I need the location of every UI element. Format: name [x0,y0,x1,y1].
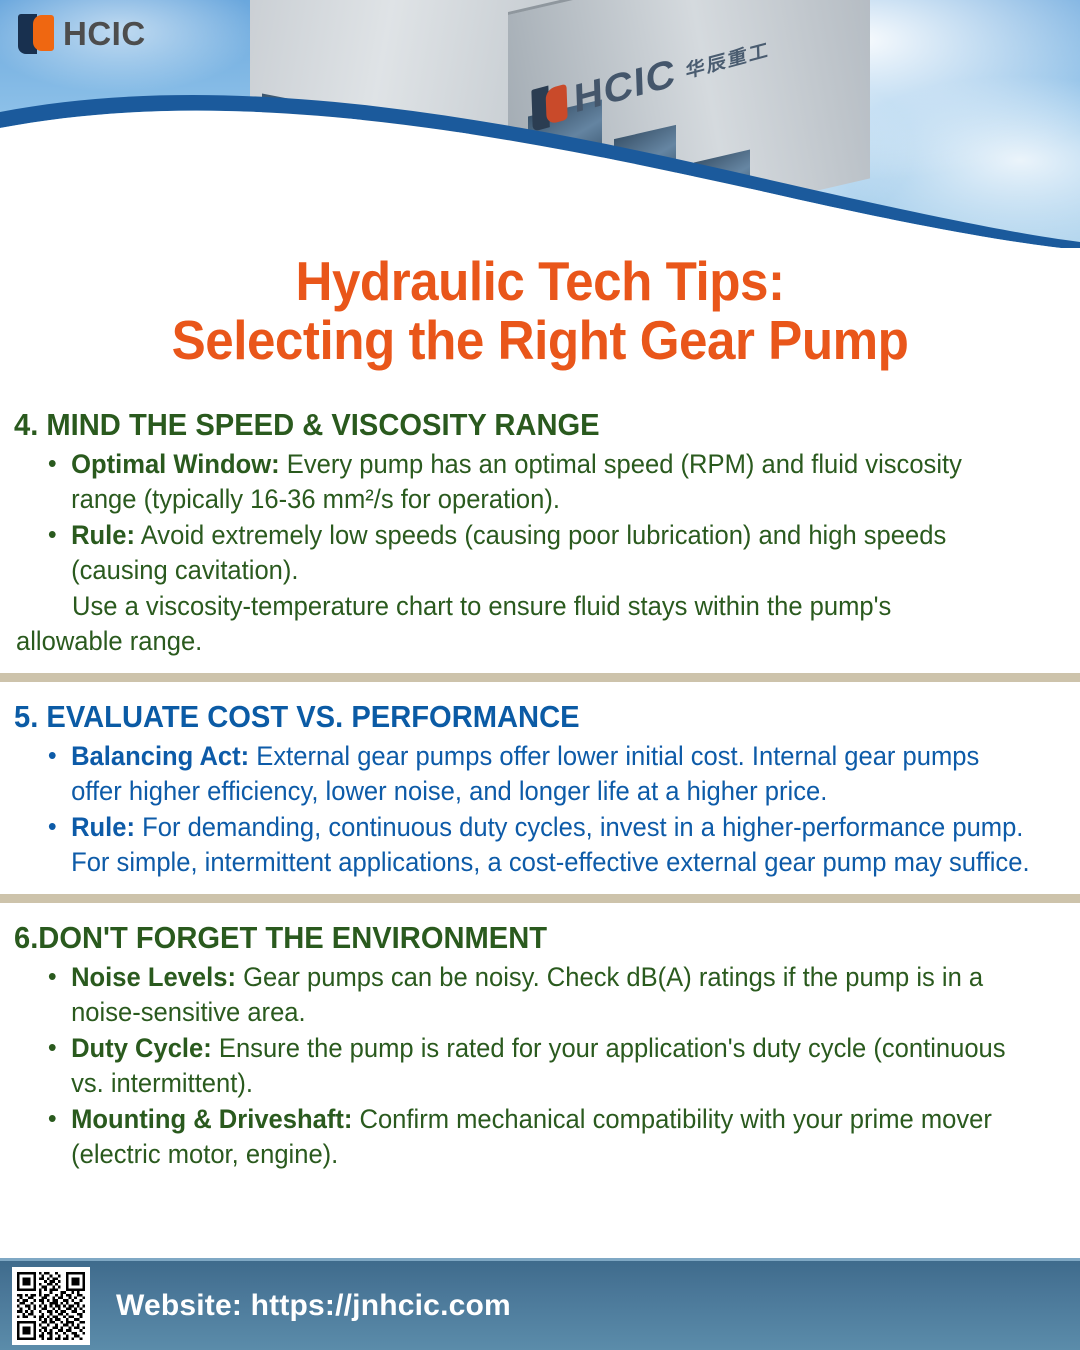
hcic-logomark-icon [18,14,54,54]
footer-bar: Website: https://jnhcic.com [0,1258,1080,1350]
page-title-line1: Hydraulic Tech Tips: [295,250,784,312]
bullet-text: For demanding, continuous duty cycles, i… [71,812,1029,877]
section-cost-performance: 5. EVALUATE COST VS. PERFORMANCE Balanci… [0,698,1080,880]
bullet-lead: Rule: [71,520,135,550]
list-item: Duty Cycle: Ensure the pump is rated for… [46,1031,1030,1101]
brand-logo: HCIC [18,14,146,54]
blue-wave-decoration [0,0,1080,248]
website-label: Website: https://jnhcic.com [116,1289,511,1323]
section-heading: 5. EVALUATE COST VS. PERFORMANCE [14,698,1003,735]
list-item: Rule: Avoid extremely low speeds (causin… [46,518,1030,588]
infographic-page: HCIC 华辰重工 HCIC Hydraulic Tech Tips: Sele… [0,0,1080,1350]
bullet-lead: Balancing Act: [71,741,249,771]
page-title: Hydraulic Tech Tips: Selecting the Right… [38,252,1042,371]
bullet-lead: Rule: [71,812,135,842]
section-divider [0,894,1080,903]
section-note-line2: allowable range. [16,624,1031,659]
qr-code-icon [17,1272,85,1340]
bullet-list: Optimal Window: Every pump has an optima… [46,447,1066,588]
section-environment: 6.DON'T FORGET THE ENVIRONMENT Noise Lev… [0,919,1080,1172]
bullet-text: Avoid extremely low speeds (causing poor… [71,520,946,585]
section-heading: 4. MIND THE SPEED & VISCOSITY RANGE [14,406,1003,443]
bullet-list: Balancing Act: External gear pumps offer… [46,739,1066,880]
page-title-line2: Selecting the Right Gear Pump [38,311,1042,370]
bullet-lead: Mounting & Driveshaft: [71,1104,352,1134]
section-speed-viscosity: 4. MIND THE SPEED & VISCOSITY RANGE Opti… [0,406,1080,659]
section-note: Use a viscosity-temperature chart to ens… [72,589,1031,659]
section-note-line1: Use a viscosity-temperature chart to ens… [72,591,891,621]
list-item: Rule: For demanding, continuous duty cyc… [46,810,1030,880]
bullet-lead: Noise Levels: [71,962,236,992]
bullet-text: Ensure the pump is rated for your applic… [71,1033,1005,1098]
bullet-lead: Optimal Window: [71,449,280,479]
qr-code[interactable] [12,1267,90,1345]
section-heading: 6.DON'T FORGET THE ENVIRONMENT [14,919,1003,956]
brand-logo-text: HCIC [63,15,146,53]
section-divider [0,673,1080,682]
bullet-list: Noise Levels: Gear pumps can be noisy. C… [46,960,1066,1172]
list-item: Balancing Act: External gear pumps offer… [46,739,1030,809]
list-item: Optimal Window: Every pump has an optima… [46,447,1030,517]
hero-banner: HCIC 华辰重工 HCIC [0,0,1080,248]
content-body: 4. MIND THE SPEED & VISCOSITY RANGE Opti… [0,406,1080,1173]
bullet-lead: Duty Cycle: [71,1033,212,1063]
list-item: Noise Levels: Gear pumps can be noisy. C… [46,960,1030,1030]
list-item: Mounting & Driveshaft: Confirm mechanica… [46,1102,1030,1172]
